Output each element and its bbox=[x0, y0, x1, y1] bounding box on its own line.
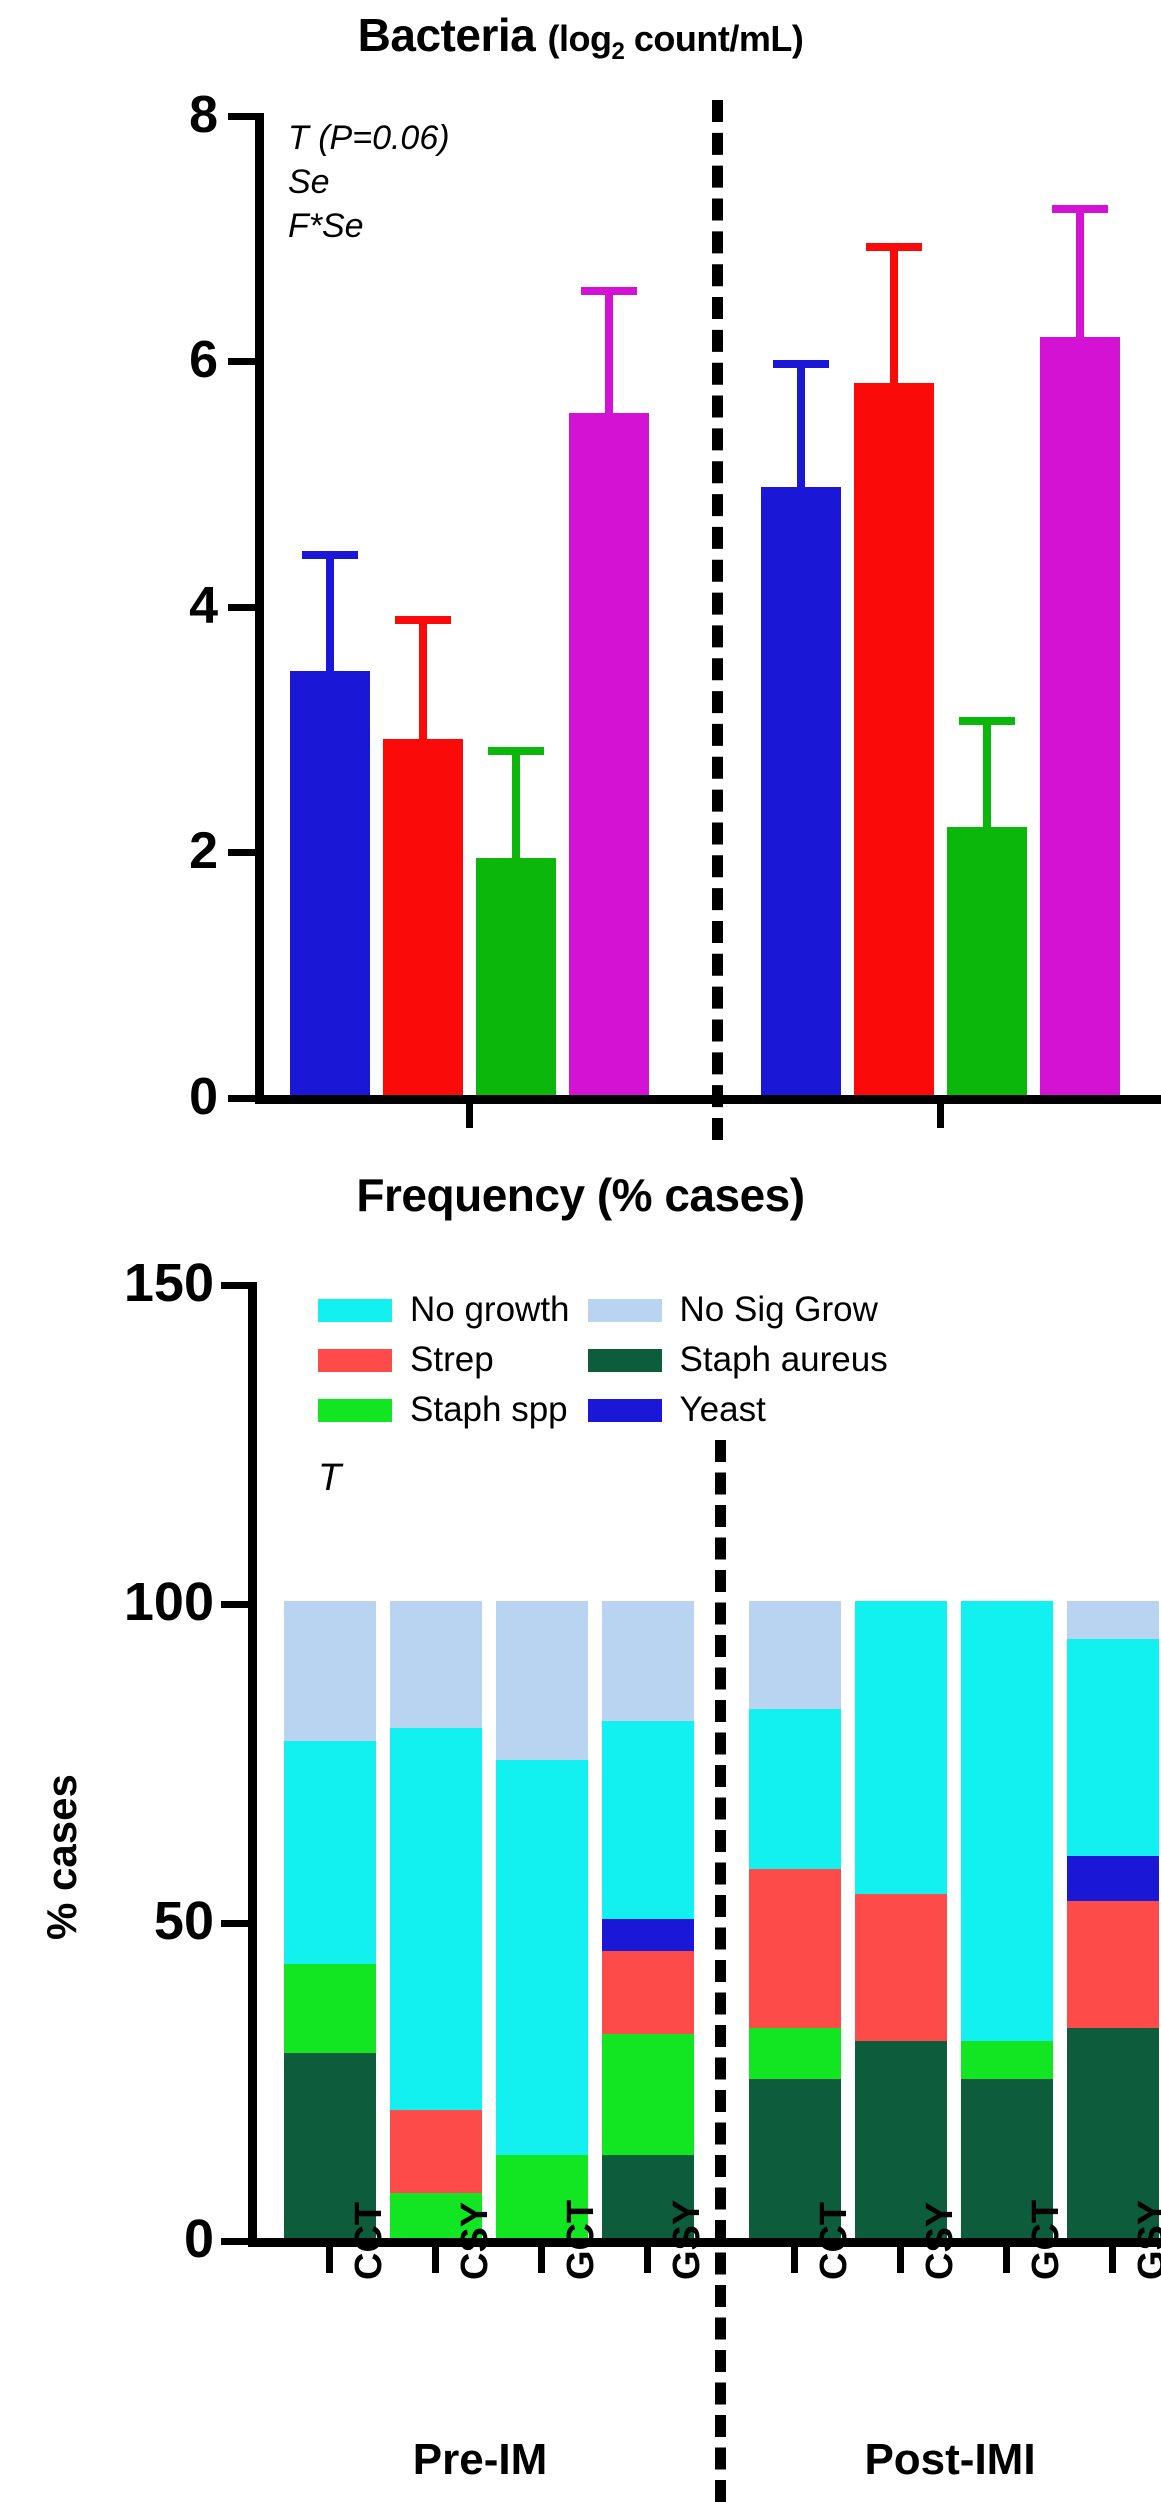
bacteria-annotation-0: T (P=0.06) bbox=[288, 118, 450, 158]
bacteria-errorcap-post-csy bbox=[866, 243, 922, 251]
frequency-chart-title: Frequency (% cases) bbox=[0, 1168, 1161, 1222]
bacteria-bar-pre-gct bbox=[476, 858, 556, 1095]
frequency-seg-staph-spp-post-cct bbox=[749, 2028, 841, 2079]
bacteria-errorcap-post-gct bbox=[959, 717, 1015, 725]
legend-swatch-strep bbox=[318, 1349, 392, 1372]
legend-swatch-yeast bbox=[588, 1399, 662, 1422]
bacteria-ylabel-0: 0 bbox=[130, 1067, 218, 1127]
bacteria-bar-post-csy bbox=[854, 383, 934, 1095]
frequency-xtick-5 bbox=[897, 2243, 904, 2273]
bacteria-errorcap-pre-csy bbox=[395, 616, 451, 624]
frequency-group-label-post: Post-IMI bbox=[790, 2435, 1110, 2485]
frequency-xtick-2 bbox=[538, 2243, 545, 2273]
bacteria-bar-pre-csy bbox=[383, 739, 463, 1095]
frequency-xtick-1 bbox=[432, 2243, 439, 2273]
bacteria-ytick-4 bbox=[228, 604, 258, 611]
frequency-seg-staph-spp-post-gct bbox=[961, 2041, 1053, 2079]
bacteria-errorbar-pre-cct bbox=[326, 555, 334, 675]
bacteria-bar-post-gct bbox=[947, 827, 1027, 1095]
bacteria-errorbar-post-csy bbox=[890, 247, 898, 387]
bacteria-ytick-2 bbox=[228, 849, 258, 856]
frequency-xlabel-3: GSY bbox=[666, 2200, 709, 2280]
bacteria-bar-post-cct bbox=[761, 487, 841, 1095]
frequency-xlabel-4: CCT bbox=[813, 2202, 856, 2280]
bacteria-group-divider bbox=[712, 100, 723, 1140]
legend-swatch-no-growth bbox=[318, 1299, 392, 1322]
bacteria-errorcap-pre-gct bbox=[488, 747, 544, 755]
frequency-seg-no-sig-grow-pre-gsy bbox=[602, 1601, 694, 1721]
frequency-xtick-4 bbox=[791, 2243, 798, 2273]
bacteria-errorbar-pre-csy bbox=[419, 620, 427, 743]
frequency-ylabel-150: 150 bbox=[58, 1252, 214, 1314]
legend-label-staph-spp: Staph spp bbox=[410, 1390, 570, 1430]
bacteria-errorcap-post-cct bbox=[773, 360, 829, 368]
bacteria-errorbar-pre-gsy bbox=[605, 291, 613, 417]
frequency-group-label-pre: Pre-IM bbox=[330, 2435, 630, 2485]
frequency-ytick-0 bbox=[221, 2238, 251, 2245]
legend-label-yeast: Yeast bbox=[680, 1390, 888, 1430]
frequency-ylabel-0: 0 bbox=[58, 2208, 214, 2270]
frequency-ytick-100 bbox=[221, 1601, 251, 1608]
bacteria-bar-pre-gsy bbox=[569, 413, 649, 1095]
frequency-seg-no-growth-pre-cct bbox=[284, 1741, 376, 1964]
legend-label-no-growth: No growth bbox=[410, 1290, 570, 1330]
bacteria-errorbar-post-cct bbox=[797, 364, 805, 491]
legend-swatch-staph-aureus bbox=[588, 1349, 662, 1372]
frequency-seg-no-sig-grow-post-cct bbox=[749, 1601, 841, 1709]
bacteria-errorcap-post-gsy bbox=[1052, 205, 1108, 213]
frequency-ytick-150 bbox=[221, 1282, 251, 1289]
frequency-seg-strep-pre-csy bbox=[390, 2110, 482, 2193]
legend-swatch-no-sig-grow bbox=[588, 1299, 662, 1322]
legend-swatch-staph-spp bbox=[318, 1399, 392, 1422]
bacteria-ylabel-6: 6 bbox=[130, 330, 218, 390]
bacteria-errorbar-pre-gct bbox=[512, 751, 520, 862]
frequency-group-divider bbox=[715, 1440, 726, 2502]
bacteria-ytick-6 bbox=[228, 358, 258, 365]
frequency-y-axis-title: % cases bbox=[38, 1774, 86, 1940]
frequency-seg-no-growth-pre-gct bbox=[496, 1760, 588, 2155]
bacteria-ylabel-8: 8 bbox=[130, 85, 218, 145]
frequency-seg-yeast-post-gsy bbox=[1067, 1856, 1159, 1901]
frequency-xlabel-5: CSY bbox=[919, 2202, 962, 2280]
frequency-seg-no-sig-grow-pre-cct bbox=[284, 1601, 376, 1741]
frequency-xlabel-1: CSY bbox=[454, 2202, 497, 2280]
frequency-seg-no-growth-post-gct bbox=[961, 1601, 1053, 2041]
bacteria-plot: 8 6 4 2 0 T (P=0.06) Se F*Se bbox=[0, 0, 1161, 1160]
bacteria-errorbar-post-gsy bbox=[1076, 209, 1084, 341]
frequency-xlabel-0: CCT bbox=[348, 2202, 391, 2280]
frequency-seg-no-growth-pre-gsy bbox=[602, 1721, 694, 1919]
frequency-xtick-0 bbox=[326, 2243, 333, 2273]
bacteria-xtick-pre bbox=[466, 1100, 473, 1128]
frequency-ylabel-100: 100 bbox=[58, 1571, 214, 1633]
frequency-seg-no-growth-post-csy bbox=[855, 1601, 947, 1894]
bacteria-ylabel-2: 2 bbox=[130, 821, 218, 881]
frequency-xtick-7 bbox=[1109, 2243, 1116, 2273]
frequency-xtick-6 bbox=[1003, 2243, 1010, 2273]
bacteria-errorcap-pre-gsy bbox=[581, 287, 637, 295]
bacteria-annotation-2: F*Se bbox=[288, 206, 364, 246]
bacteria-bar-post-gsy bbox=[1040, 337, 1120, 1095]
bacteria-xtick-post bbox=[937, 1100, 944, 1128]
frequency-legend: No growth No Sig Grow Strep Staph aureus… bbox=[318, 1290, 888, 1430]
frequency-seg-strep-pre-gsy bbox=[602, 1951, 694, 2034]
frequency-seg-strep-post-gsy bbox=[1067, 1901, 1159, 2028]
bacteria-errorbar-post-gct bbox=[983, 721, 991, 831]
bacteria-ylabel-4: 4 bbox=[130, 576, 218, 636]
frequency-seg-yeast-pre-gsy bbox=[602, 1919, 694, 1951]
frequency-seg-no-sig-grow-pre-csy bbox=[390, 1601, 482, 1728]
frequency-xlabel-7: GSY bbox=[1131, 2200, 1161, 2280]
frequency-seg-staph-spp-pre-gsy bbox=[602, 2034, 694, 2155]
figure-container: Bacteria (log2 count/mL) 8 6 4 2 0 T (P=… bbox=[0, 0, 1161, 2502]
legend-label-no-sig-grow: No Sig Grow bbox=[680, 1290, 888, 1330]
frequency-seg-no-growth-post-cct bbox=[749, 1709, 841, 1869]
frequency-seg-no-sig-grow-post-gsy bbox=[1067, 1601, 1159, 1639]
frequency-xlabel-6: GCT bbox=[1025, 2200, 1068, 2280]
frequency-seg-no-growth-pre-csy bbox=[390, 1728, 482, 2110]
legend-label-staph-aureus: Staph aureus bbox=[680, 1340, 888, 1380]
frequency-plot: 150 100 50 0 % cases No growth No Sig Gr… bbox=[0, 1240, 1161, 2502]
frequency-y-axis bbox=[248, 1282, 257, 2246]
bacteria-ytick-8 bbox=[228, 113, 258, 120]
frequency-xlabel-2: GCT bbox=[560, 2200, 603, 2280]
frequency-seg-strep-post-cct bbox=[749, 1869, 841, 2028]
frequency-ytick-50 bbox=[221, 1920, 251, 1927]
bacteria-x-axis bbox=[255, 1095, 1161, 1104]
frequency-seg-no-growth-post-gsy bbox=[1067, 1639, 1159, 1856]
bacteria-bar-pre-cct bbox=[290, 671, 370, 1095]
frequency-seg-strep-post-csy bbox=[855, 1894, 947, 2041]
legend-label-strep: Strep bbox=[410, 1340, 570, 1380]
bacteria-annotation-1: Se bbox=[288, 162, 330, 202]
bacteria-errorcap-pre-cct bbox=[302, 551, 358, 559]
frequency-xtick-3 bbox=[644, 2243, 651, 2273]
frequency-seg-staph-spp-pre-cct bbox=[284, 1964, 376, 2053]
bacteria-ytick-0 bbox=[228, 1095, 258, 1102]
frequency-seg-no-sig-grow-pre-gct bbox=[496, 1601, 588, 1760]
frequency-annotation: T bbox=[318, 1458, 341, 1498]
